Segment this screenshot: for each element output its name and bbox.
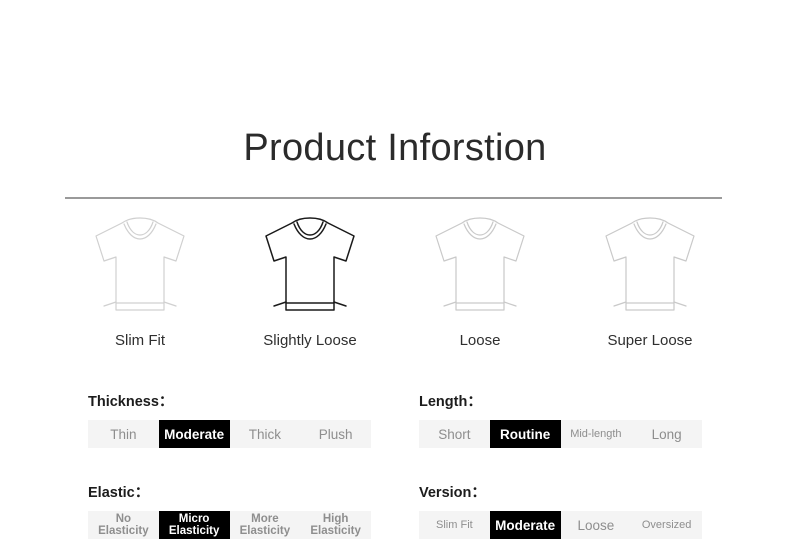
fit-option-label: Loose <box>460 331 501 351</box>
option-moderate[interactable]: Moderate <box>490 511 561 539</box>
attribute-length: Length： Short Routine Mid-length Long <box>419 392 702 448</box>
sweater-icon <box>598 214 702 320</box>
option-high-elasticity[interactable]: High Elasticity <box>300 511 371 539</box>
option-routine[interactable]: Routine <box>490 420 561 448</box>
fit-option-label: Slim Fit <box>115 331 165 351</box>
option-bar-thickness: Thin Moderate Thick Plush <box>88 420 371 448</box>
option-bar-elastic: No Elasticity Micro Elasticity More Elas… <box>88 511 371 539</box>
fit-option-loose[interactable]: Loose <box>405 214 555 351</box>
page-title: Product Inforstion <box>0 124 790 172</box>
attribute-label: Thickness： <box>88 392 371 412</box>
attribute-label: Length： <box>419 392 702 412</box>
fit-option-label: Slightly Loose <box>263 331 356 351</box>
option-moderate[interactable]: Moderate <box>159 420 230 448</box>
attribute-label: Elastic： <box>88 483 371 503</box>
fit-option-label: Super Loose <box>607 331 692 351</box>
sweater-icon <box>428 214 532 320</box>
option-mid-length[interactable]: Mid-length <box>561 420 632 448</box>
option-bar-version: Slim Fit Moderate Loose Oversized <box>419 511 702 539</box>
product-information-page: Product Inforstion Slim Fit <box>0 0 790 538</box>
attribute-label: Version： <box>419 483 702 503</box>
sweater-icon <box>88 214 192 320</box>
option-slim-fit[interactable]: Slim Fit <box>419 511 490 539</box>
option-long[interactable]: Long <box>631 420 702 448</box>
option-bar-length: Short Routine Mid-length Long <box>419 420 702 448</box>
option-micro-elasticity[interactable]: Micro Elasticity <box>159 511 230 539</box>
fit-option-slim-fit[interactable]: Slim Fit <box>65 214 215 351</box>
fit-option-slightly-loose[interactable]: Slightly Loose <box>235 214 385 351</box>
option-thick[interactable]: Thick <box>230 420 301 448</box>
fit-option-super-loose[interactable]: Super Loose <box>575 214 725 351</box>
attribute-elastic: Elastic： No Elasticity Micro Elasticity … <box>88 483 371 539</box>
option-oversized[interactable]: Oversized <box>631 511 702 539</box>
option-thin[interactable]: Thin <box>88 420 159 448</box>
option-no-elasticity[interactable]: No Elasticity <box>88 511 159 539</box>
option-plush[interactable]: Plush <box>300 420 371 448</box>
sweater-icon <box>258 214 362 320</box>
attribute-thickness: Thickness： Thin Moderate Thick Plush <box>88 392 371 448</box>
option-short[interactable]: Short <box>419 420 490 448</box>
title-divider <box>65 197 722 199</box>
attribute-version: Version： Slim Fit Moderate Loose Oversiz… <box>419 483 702 539</box>
fit-option-row: Slim Fit Slightly Loose <box>65 214 725 351</box>
option-more-elasticity[interactable]: More Elasticity <box>230 511 301 539</box>
option-loose[interactable]: Loose <box>561 511 632 539</box>
